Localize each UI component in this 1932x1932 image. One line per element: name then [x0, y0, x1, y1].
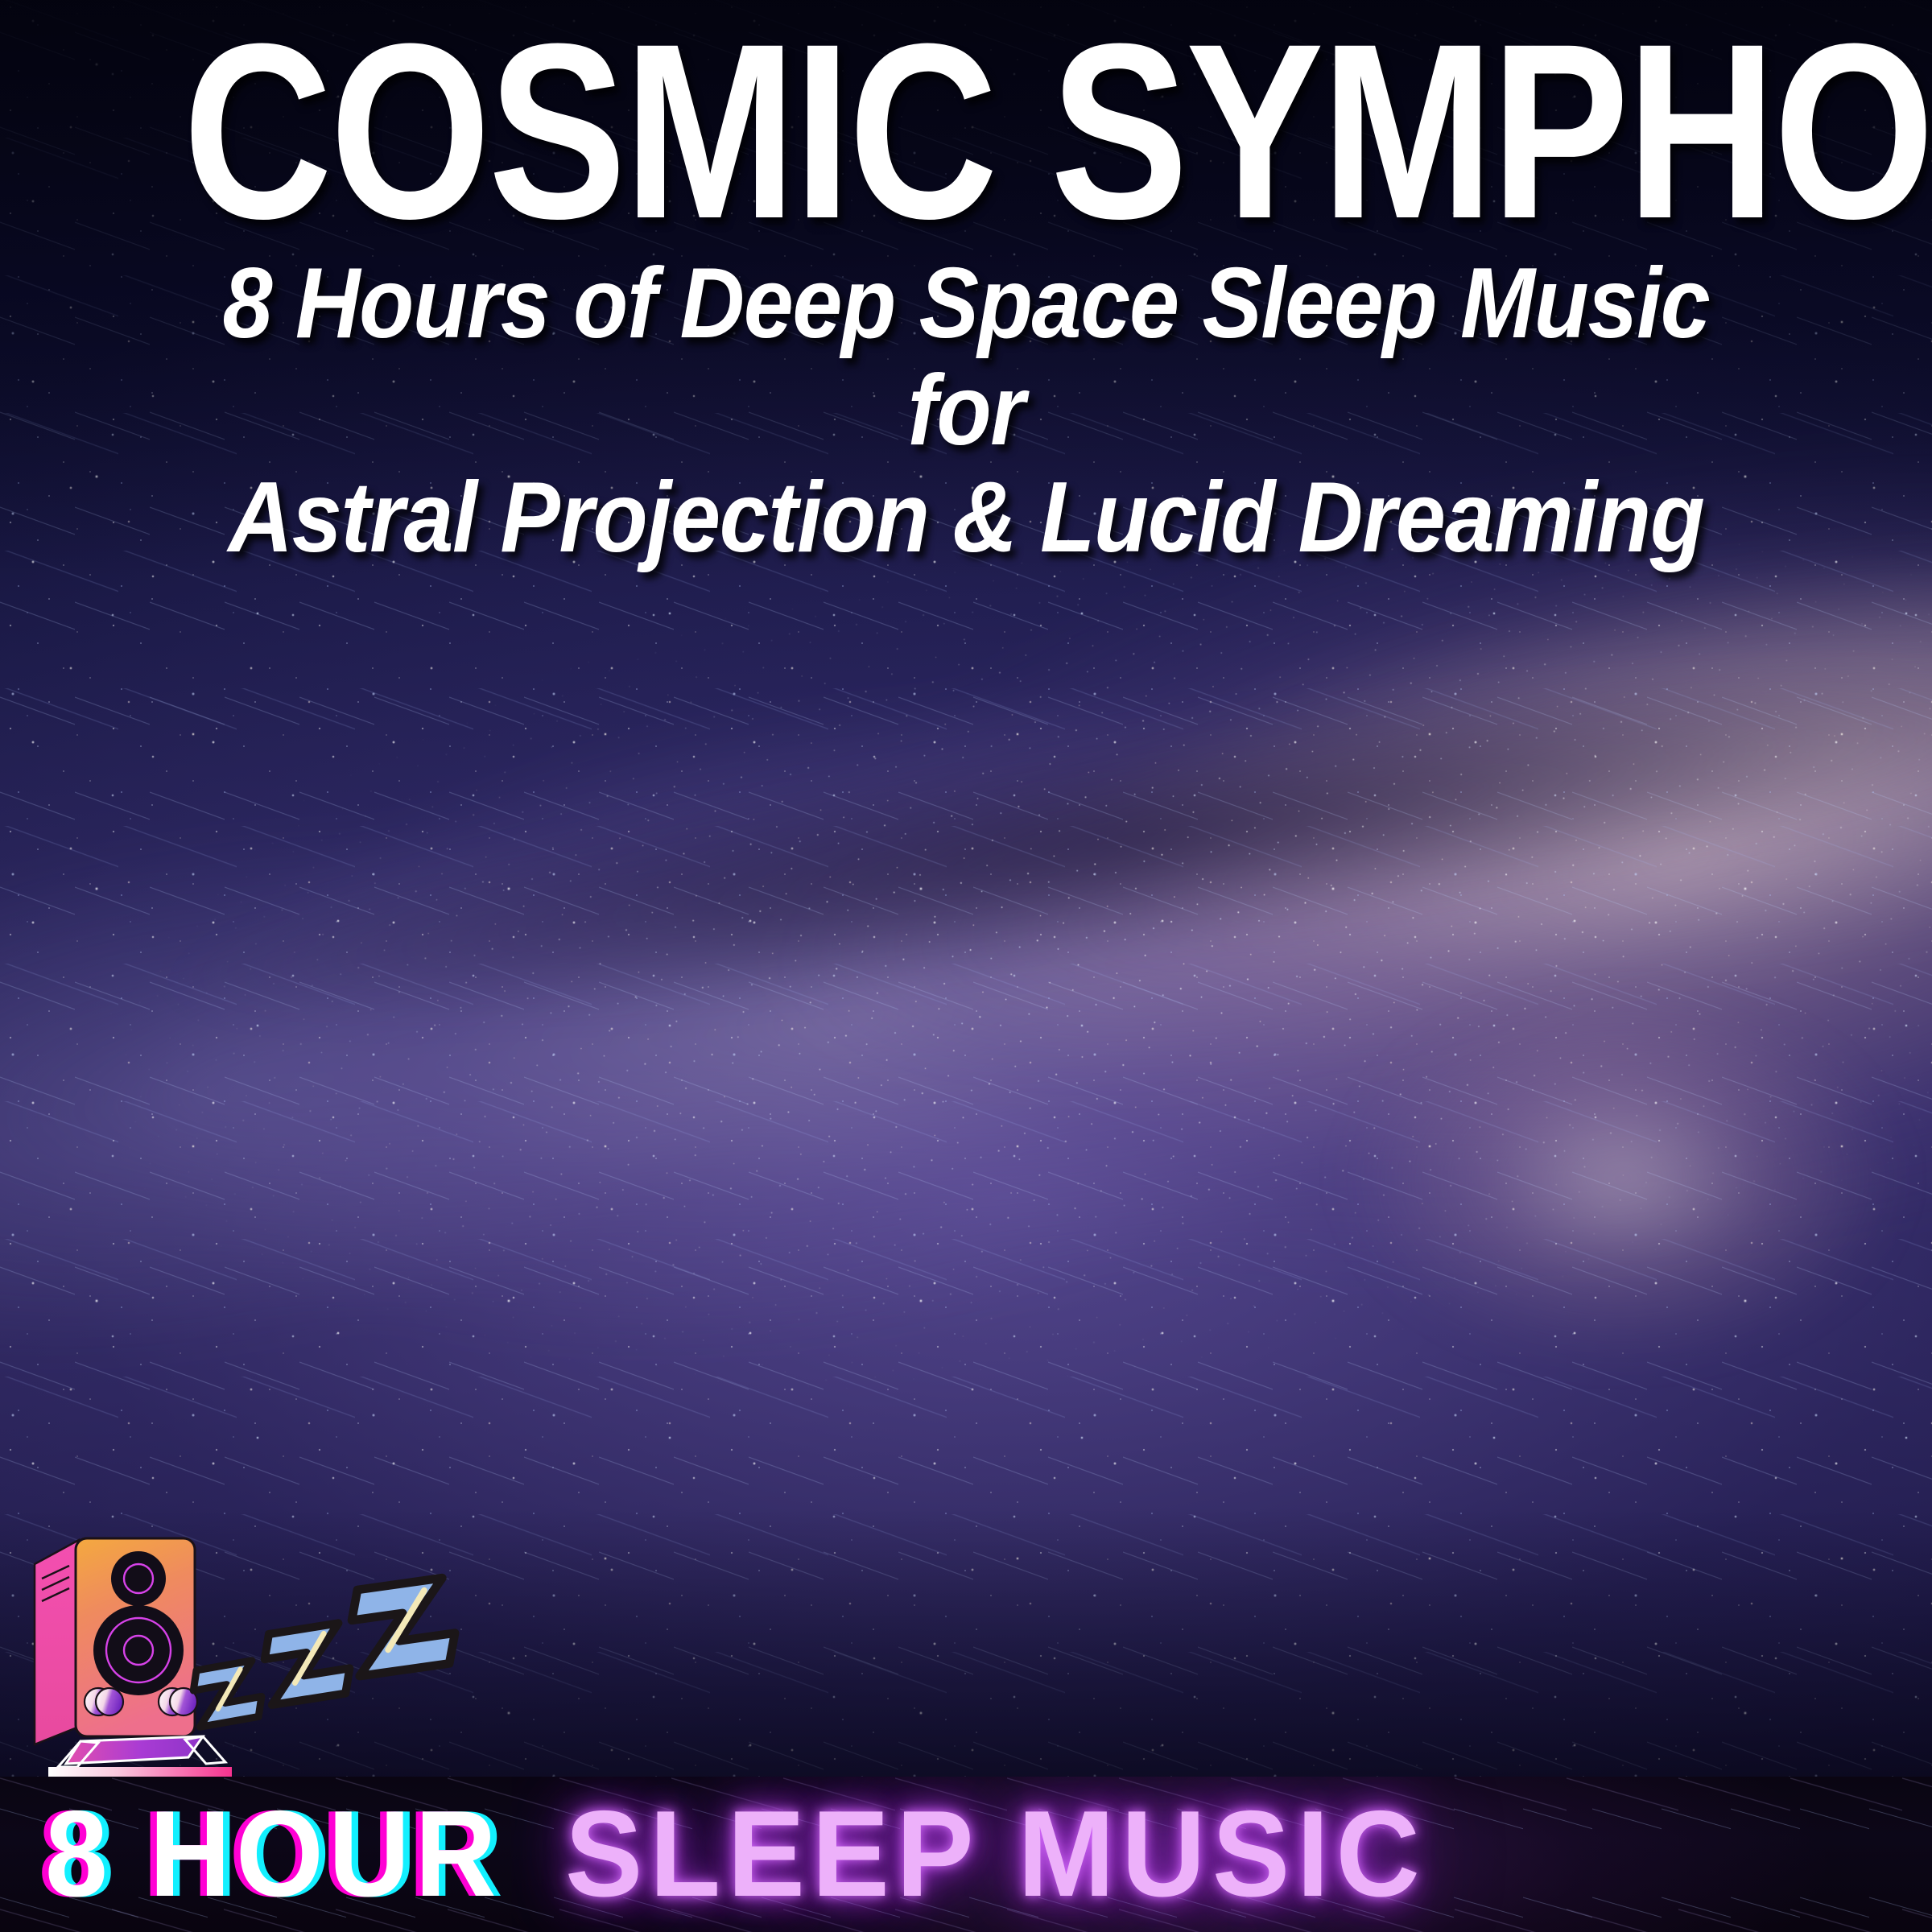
- album-title: COSMIC SYMPHONY: [164, 0, 1768, 246]
- album-subtitle-line-1: 8 Hours of Deep Space Sleep Music for: [213, 250, 1719, 464]
- brand-footer-bar: 8 HOUR SLEEP MUSIC: [0, 1777, 1932, 1932]
- sleep-speaker-logo: [31, 1525, 530, 1791]
- speaker-woofer: [93, 1605, 184, 1695]
- brand-sleep-music-text: SLEEP MUSIC: [565, 1784, 1426, 1925]
- title-block: COSMIC SYMPHONY 8 Hours of Deep Space Sl…: [0, 0, 1932, 571]
- album-subtitle-line-2: Astral Projection & Lucid Dreaming: [213, 464, 1719, 572]
- speaker-tweeter: [111, 1551, 166, 1606]
- album-subtitle: 8 Hours of Deep Space Sleep Music for As…: [126, 246, 1806, 571]
- zzz-icon: [190, 1577, 459, 1727]
- brand-8hour-text: 8 HOUR: [45, 1784, 502, 1925]
- brand-wordmark: 8 HOUR SLEEP MUSIC: [0, 1784, 1472, 1925]
- album-cover: COSMIC SYMPHONY 8 Hours of Deep Space Sl…: [0, 0, 1932, 1932]
- speaker-side-panel: [35, 1540, 79, 1744]
